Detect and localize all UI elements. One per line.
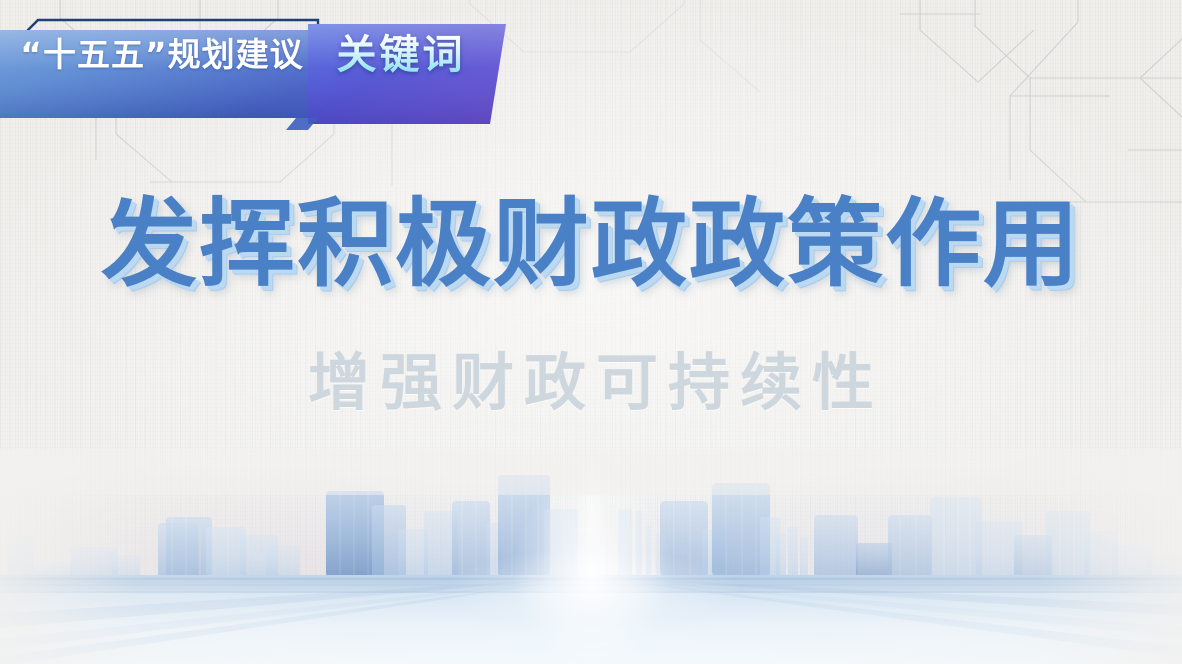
city-skyline-illustration (0, 449, 1182, 664)
page-subtitle: 增强财政可持续性 (0, 352, 1182, 414)
page-title: 发挥积极财政政策作用 (0, 196, 1182, 292)
ribbon-right-panel (308, 24, 506, 124)
ribbon-body (0, 0, 520, 140)
ribbon-left-panel (0, 30, 318, 118)
keyword-ribbon[interactable]: “十五五”规划建议 关键词 (0, 0, 520, 140)
banner-canvas: 发挥积极财政政策作用 增强财政可持续性 (0, 0, 1182, 664)
